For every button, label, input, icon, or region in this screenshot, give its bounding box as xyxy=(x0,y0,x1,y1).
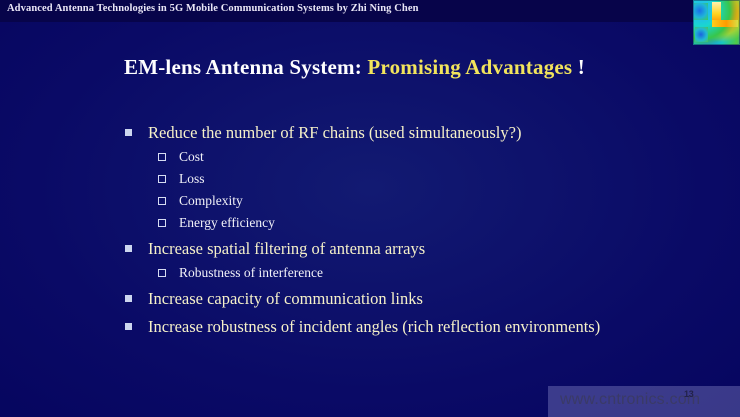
filled-square-marker-icon xyxy=(125,295,132,302)
presentation-header-title: Advanced Antenna Technologies in 5G Mobi… xyxy=(7,3,419,14)
hollow-square-marker-icon xyxy=(158,175,166,183)
filled-square-marker-icon xyxy=(125,129,132,136)
sub-bullet-text: Loss xyxy=(179,171,205,186)
watermark-text: www.cntronics.com xyxy=(560,391,700,409)
sub-bullet-item: Cost xyxy=(124,146,664,168)
sub-bullet-text: Complexity xyxy=(179,193,243,208)
slide-title-suffix: ! xyxy=(578,55,585,79)
slide-bullet-list: Reduce the number of RF chains (used sim… xyxy=(124,121,664,340)
bullet-text: Increase capacity of communication links xyxy=(148,289,423,308)
bullet-text: Reduce the number of RF chains (used sim… xyxy=(148,123,521,142)
hollow-square-marker-icon xyxy=(158,197,166,205)
slide-title-prefix: EM-lens Antenna System: xyxy=(124,55,362,79)
hollow-square-marker-icon xyxy=(158,153,166,161)
filled-square-marker-icon xyxy=(125,245,132,252)
bullet-item: Increase robustness of incident angles (… xyxy=(124,315,664,338)
sub-bullet-item: Complexity xyxy=(124,190,664,212)
slide-title-highlight: Promising Advantages xyxy=(367,55,572,79)
sub-bullet-item: Loss xyxy=(124,168,664,190)
sub-bullet-text: Robustness of interference xyxy=(179,265,323,280)
hollow-square-marker-icon xyxy=(158,269,166,277)
thumbnail-border xyxy=(693,0,740,45)
hollow-square-marker-icon xyxy=(158,219,166,227)
bullet-text: Increase robustness of incident angles (… xyxy=(148,317,600,336)
slide-page-number: 13 xyxy=(684,389,693,399)
sub-bullet-text: Energy efficiency xyxy=(179,215,275,230)
presentation-slide: Advanced Antenna Technologies in 5G Mobi… xyxy=(0,0,740,417)
sub-bullet-item: Energy efficiency xyxy=(124,212,664,234)
slide-title: EM-lens Antenna System: Promising Advant… xyxy=(124,55,585,80)
bullet-item: Increase capacity of communication links xyxy=(124,287,664,310)
bullet-text: Increase spatial filtering of antenna ar… xyxy=(148,239,425,258)
filled-square-marker-icon xyxy=(125,323,132,330)
bullet-item: Reduce the number of RF chains (used sim… xyxy=(124,121,664,144)
em-field-simulation-thumbnail-icon xyxy=(693,0,740,45)
sub-bullet-text: Cost xyxy=(179,149,204,164)
bullet-item: Increase spatial filtering of antenna ar… xyxy=(124,237,664,260)
sub-bullet-item: Robustness of interference xyxy=(124,262,664,284)
